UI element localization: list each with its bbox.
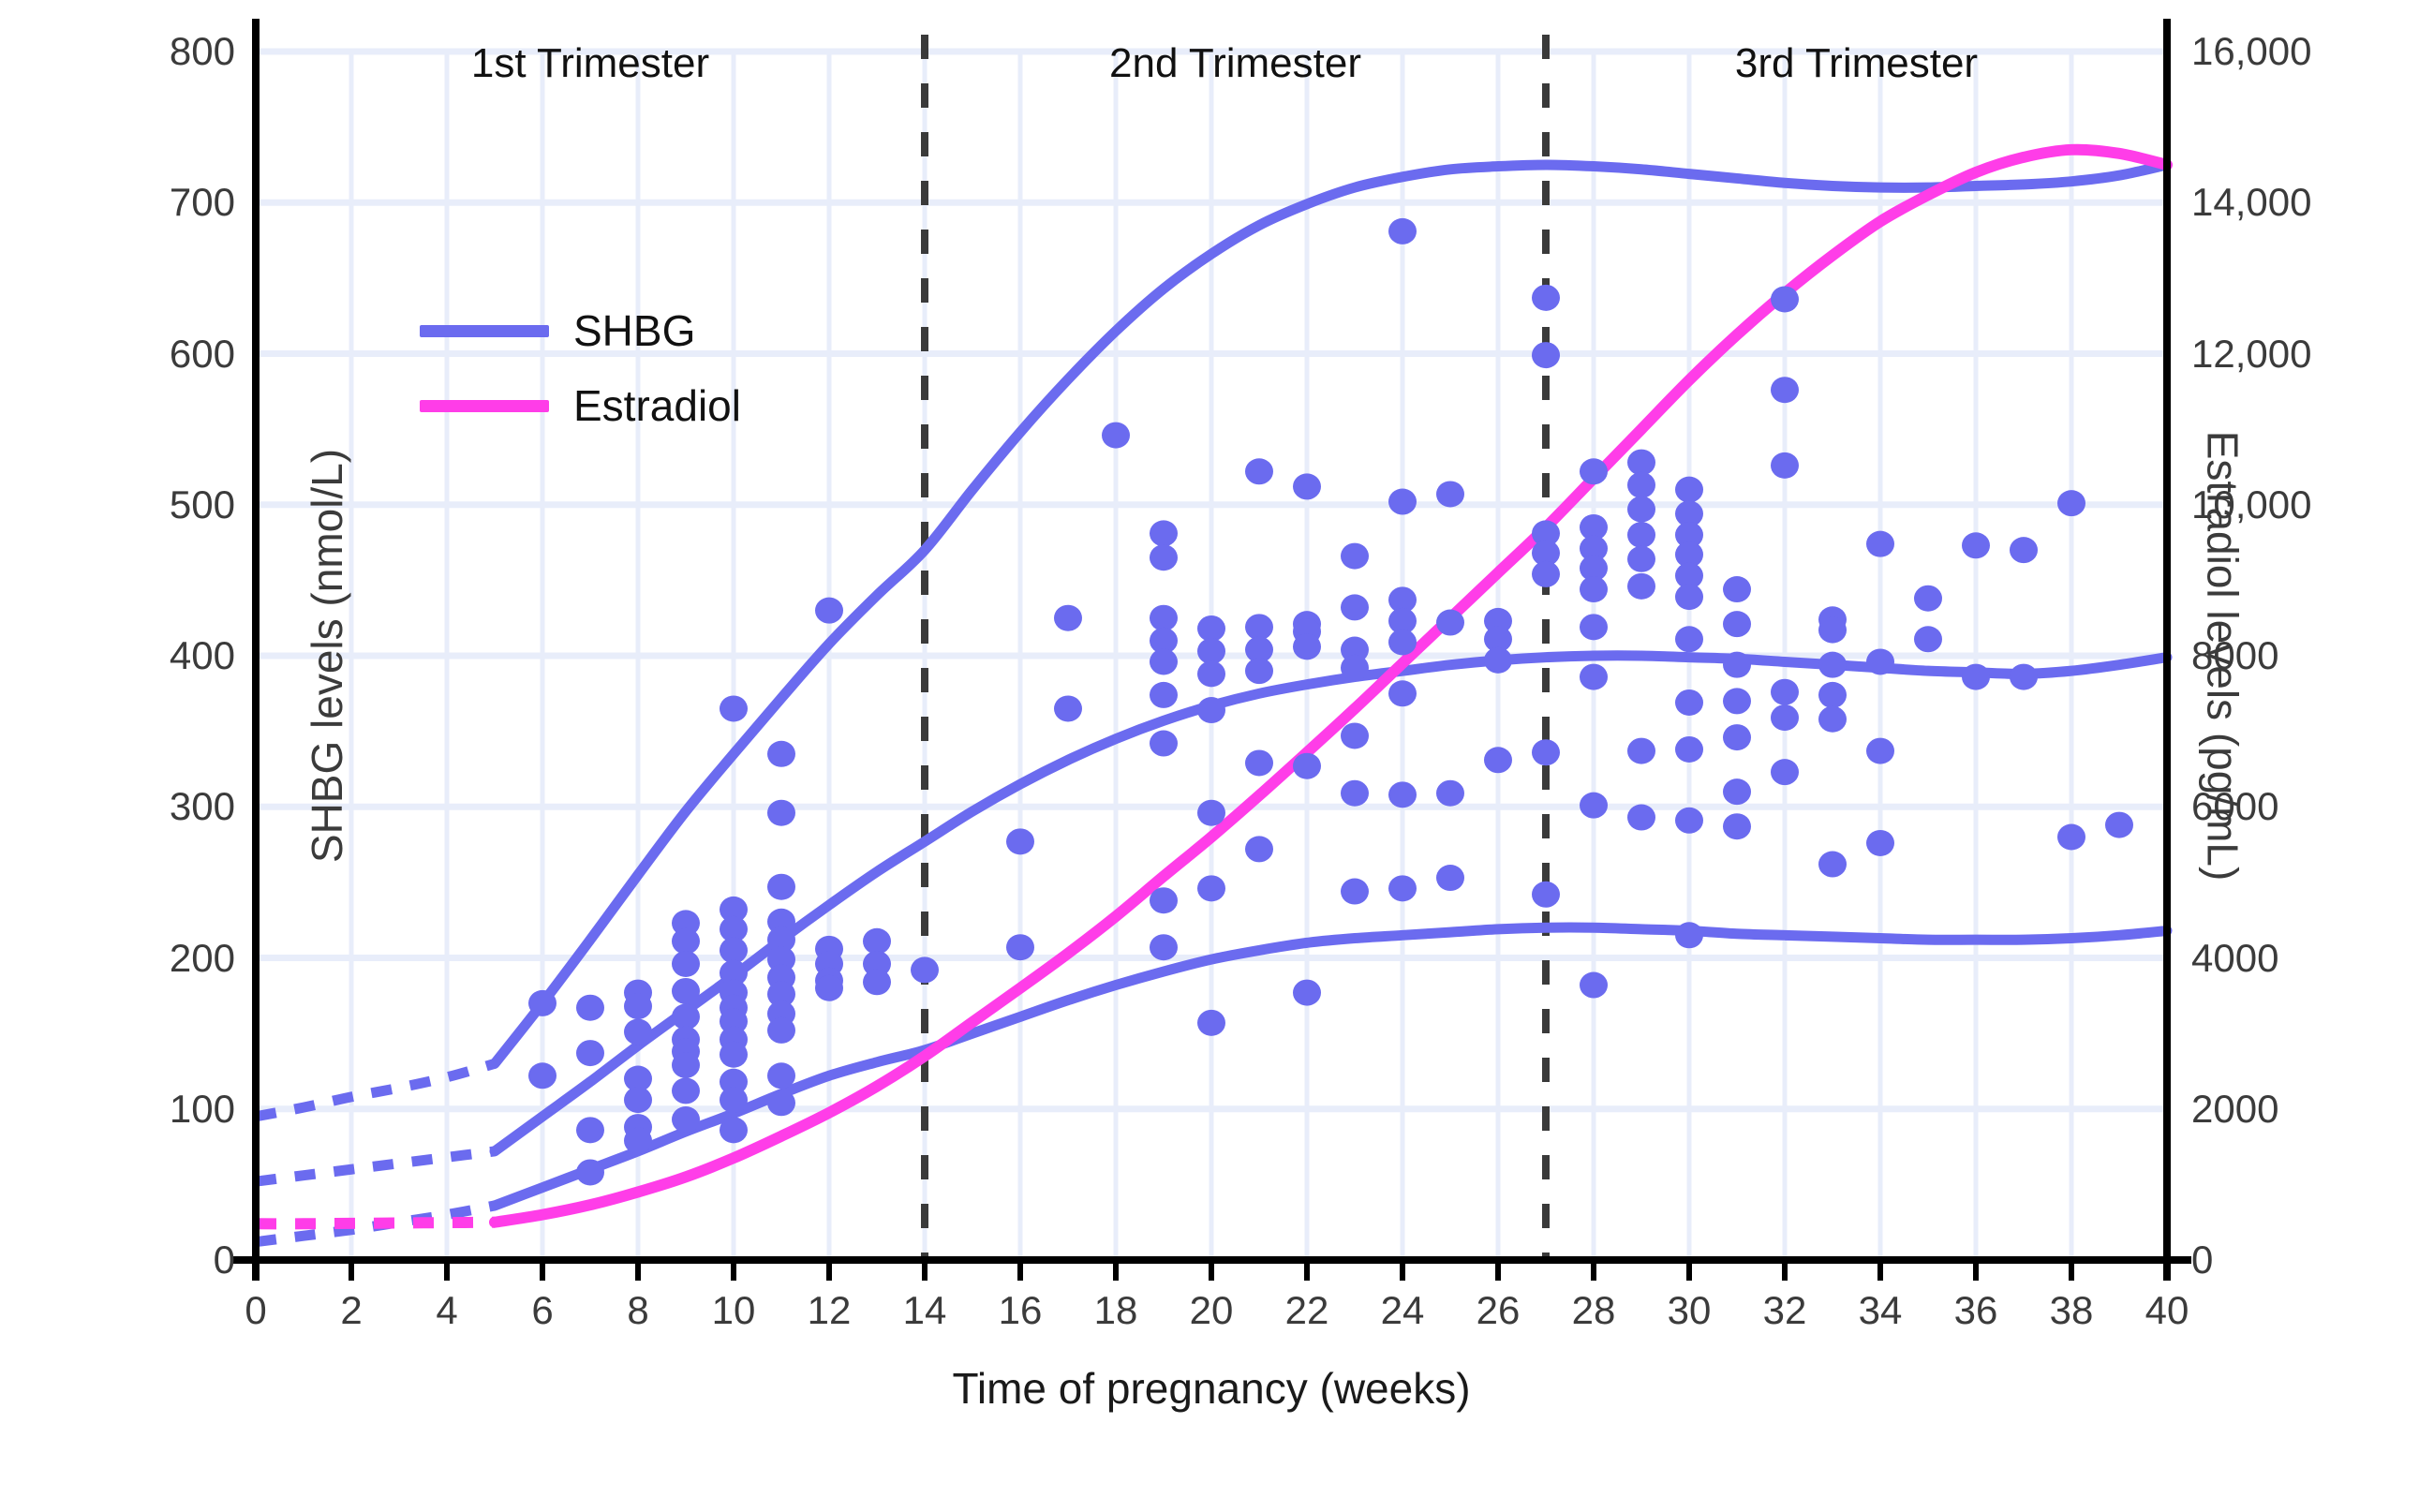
y-axis-left-tick-label: 100 xyxy=(170,1087,235,1132)
x-axis-tick-label: 6 xyxy=(531,1288,553,1333)
x-axis-tick-label: 2 xyxy=(340,1288,362,1333)
x-axis-tick-label: 0 xyxy=(245,1288,266,1333)
x-axis-tick-label: 20 xyxy=(1190,1288,1234,1333)
trimester-label: 3rd Trimester xyxy=(1735,40,1978,87)
legend-item-shbg: SHBG xyxy=(420,309,741,352)
y-axis-right-title: Estradiol levels (pg/mL) xyxy=(2198,431,2248,882)
y-axis-left-tick-label: 200 xyxy=(170,936,235,981)
x-axis-tick-label: 32 xyxy=(1763,1288,1807,1333)
y-axis-right-tick-label: 4000 xyxy=(2191,936,2278,981)
y-axis-left-tick-label: 0 xyxy=(214,1238,235,1282)
y-axis-right-tick-label: 2000 xyxy=(2191,1087,2278,1132)
legend-label-estradiol: Estradiol xyxy=(573,384,741,427)
x-axis-tick-label: 38 xyxy=(2050,1288,2094,1333)
legend-item-estradiol: Estradiol xyxy=(420,384,741,427)
y-axis-left-tick-label: 700 xyxy=(170,180,235,225)
y-axis-right-tick-label: 14,000 xyxy=(2191,180,2311,225)
x-axis-tick-label: 4 xyxy=(436,1288,457,1333)
x-axis-tick-label: 24 xyxy=(1381,1288,1425,1333)
x-axis-tick-label: 40 xyxy=(2145,1288,2189,1333)
x-axis-tick-label: 30 xyxy=(1668,1288,1712,1333)
trimester-label: 2nd Trimester xyxy=(1109,40,1361,87)
y-axis-left-title: SHBG levels (nmol/L) xyxy=(302,449,352,863)
x-axis-tick-label: 18 xyxy=(1094,1288,1138,1333)
legend-swatch-shbg-icon xyxy=(420,325,549,337)
x-axis-tick-label: 22 xyxy=(1285,1288,1329,1333)
x-axis-title: Time of pregnancy (weeks) xyxy=(256,1363,2167,1414)
y-axis-left-tick-label: 300 xyxy=(170,784,235,829)
y-axis-right-tick-label: 12,000 xyxy=(2191,332,2311,377)
y-axis-right-tick-label: 16,000 xyxy=(2191,29,2311,74)
y-axis-left-tick-label: 500 xyxy=(170,482,235,527)
x-axis-tick-label: 10 xyxy=(712,1288,756,1333)
y-axis-left-tick-label: 400 xyxy=(170,633,235,678)
x-axis-tick-label: 36 xyxy=(1954,1288,1998,1333)
plot-area: 0100200300400500600700800 02000400060008… xyxy=(256,52,2167,1260)
x-axis-tick-label: 8 xyxy=(627,1288,648,1333)
trimester-label: 1st Trimester xyxy=(471,40,709,87)
x-axis-tick-label: 26 xyxy=(1477,1288,1521,1333)
y-axis-left-tick-label: 600 xyxy=(170,332,235,377)
legend-swatch-estradiol-icon xyxy=(420,400,549,412)
chart-legend: SHBG Estradiol xyxy=(420,309,741,427)
x-axis-tick-label: 16 xyxy=(999,1288,1043,1333)
legend-label-shbg: SHBG xyxy=(573,309,695,352)
y-axis-left-tick-label: 800 xyxy=(170,29,235,74)
chart-page: 0100200300400500600700800 02000400060008… xyxy=(0,0,2419,1512)
x-axis-tick-label: 34 xyxy=(1859,1288,1903,1333)
axis-spines-layer xyxy=(256,52,2167,1260)
x-axis-tick-label: 28 xyxy=(1572,1288,1616,1333)
x-axis-tick-label: 12 xyxy=(808,1288,852,1333)
x-axis-tick-label: 14 xyxy=(903,1288,947,1333)
y-axis-right-tick-label: 0 xyxy=(2191,1238,2213,1282)
